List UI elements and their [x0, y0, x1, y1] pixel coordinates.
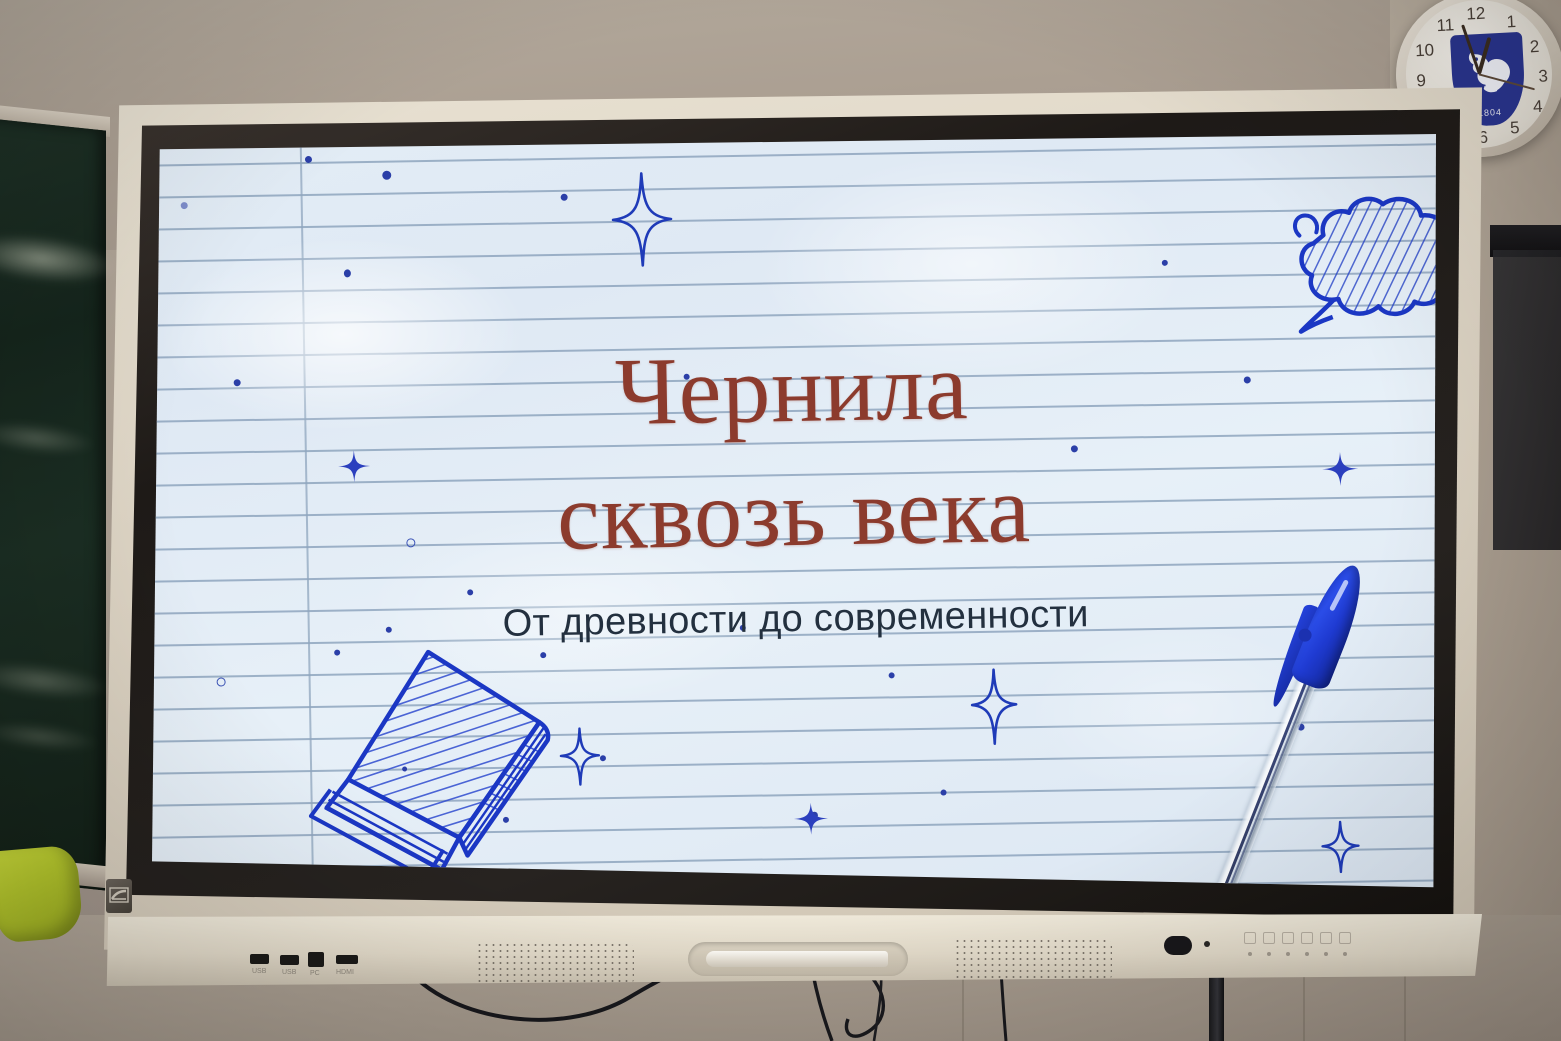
home-key-icon[interactable]: [1244, 932, 1256, 944]
menu-key-icon[interactable]: [1282, 932, 1294, 944]
hdmi-port-icon[interactable]: [336, 955, 358, 964]
manufacturer-logo-badge: [106, 879, 132, 913]
key-indicator-dot: [1343, 952, 1347, 956]
usb-b-port-icon[interactable]: [308, 952, 324, 967]
ink-dot: [1162, 260, 1168, 266]
ink-dot: [1071, 445, 1078, 452]
clock-numeral: 12: [1465, 4, 1486, 25]
interactive-flat-panel[interactable]: Чернила сквозь века От древности до совр…: [104, 82, 1482, 982]
key-indicator-dot: [1305, 952, 1309, 956]
ink-dot: [181, 202, 188, 209]
ink-dot: [217, 677, 226, 686]
port-label: PC: [310, 970, 320, 977]
speaker-grille-right: [954, 938, 1112, 982]
four-point-sparkle: [971, 668, 1018, 745]
paper-rule-line: [152, 175, 1436, 199]
ink-dot: [561, 194, 568, 201]
ink-dot: [467, 589, 473, 595]
usb-port-icon[interactable]: [250, 954, 269, 964]
ink-dot: [382, 171, 391, 180]
sketched-book-doodle: [306, 636, 580, 890]
ir-receiver: [1204, 941, 1210, 947]
slide-title-line-1: Чернила: [152, 327, 1436, 451]
ink-dot: [344, 269, 351, 277]
clock-numeral: 3: [1533, 66, 1554, 87]
port-label: USB: [282, 969, 296, 976]
slide-title-line-2: сквозь века: [152, 451, 1436, 575]
stylus-pen[interactable]: [706, 951, 888, 967]
green-chalkboard: [0, 118, 106, 891]
paper-rule-line: [152, 303, 1436, 327]
clock-numeral: 11: [1435, 15, 1456, 36]
clock-numeral: 5: [1504, 118, 1525, 139]
ink-dot: [305, 156, 312, 163]
power-button[interactable]: [1164, 936, 1192, 955]
control-key-row[interactable]: [1244, 932, 1351, 944]
speaker-grille-left: [476, 942, 634, 986]
paper-rule-line: [152, 207, 1436, 231]
cleaning-cloth: [0, 844, 84, 943]
ink-dot: [889, 672, 895, 678]
four-point-sparkle: [1321, 821, 1360, 874]
port-label: HDMI: [336, 969, 354, 976]
presentation-title-slide[interactable]: Чернила сквозь века От древности до совр…: [152, 134, 1436, 898]
key-indicator-dot: [1286, 952, 1290, 956]
usb-port-icon[interactable]: [280, 955, 299, 965]
clock-numeral: 10: [1414, 40, 1435, 61]
display-bottom-bar[interactable]: USB USB PC HDMI: [104, 914, 1482, 986]
ink-dot: [941, 790, 947, 796]
volume-up-key-icon[interactable]: [1320, 932, 1332, 944]
volume-down-key-icon[interactable]: [1301, 932, 1313, 944]
display-screen[interactable]: Чернила сквозь века От древности до совр…: [152, 134, 1436, 898]
four-point-sparkle: [793, 801, 830, 836]
clock-numeral: 1: [1501, 12, 1522, 33]
freeze-key-icon[interactable]: [1339, 932, 1351, 944]
sketched-thought-cloud-doodle: [1261, 189, 1436, 348]
clock-numeral: 4: [1527, 97, 1548, 118]
classroom-scene: 12 1 2 3 4 5 6 7 8 9 10 11 1804: [0, 0, 1561, 1041]
key-indicator-dot: [1267, 952, 1271, 956]
key-indicator-dot: [1248, 952, 1252, 956]
port-label: USB: [252, 968, 266, 975]
key-indicator-dot: [1324, 952, 1328, 956]
paper-rule-line: [152, 239, 1436, 263]
ink-dot: [600, 755, 606, 761]
clock-numeral: 2: [1524, 37, 1545, 58]
dark-wall-recess: [1493, 250, 1561, 550]
four-point-sparkle: [610, 172, 674, 267]
back-key-icon[interactable]: [1263, 932, 1275, 944]
